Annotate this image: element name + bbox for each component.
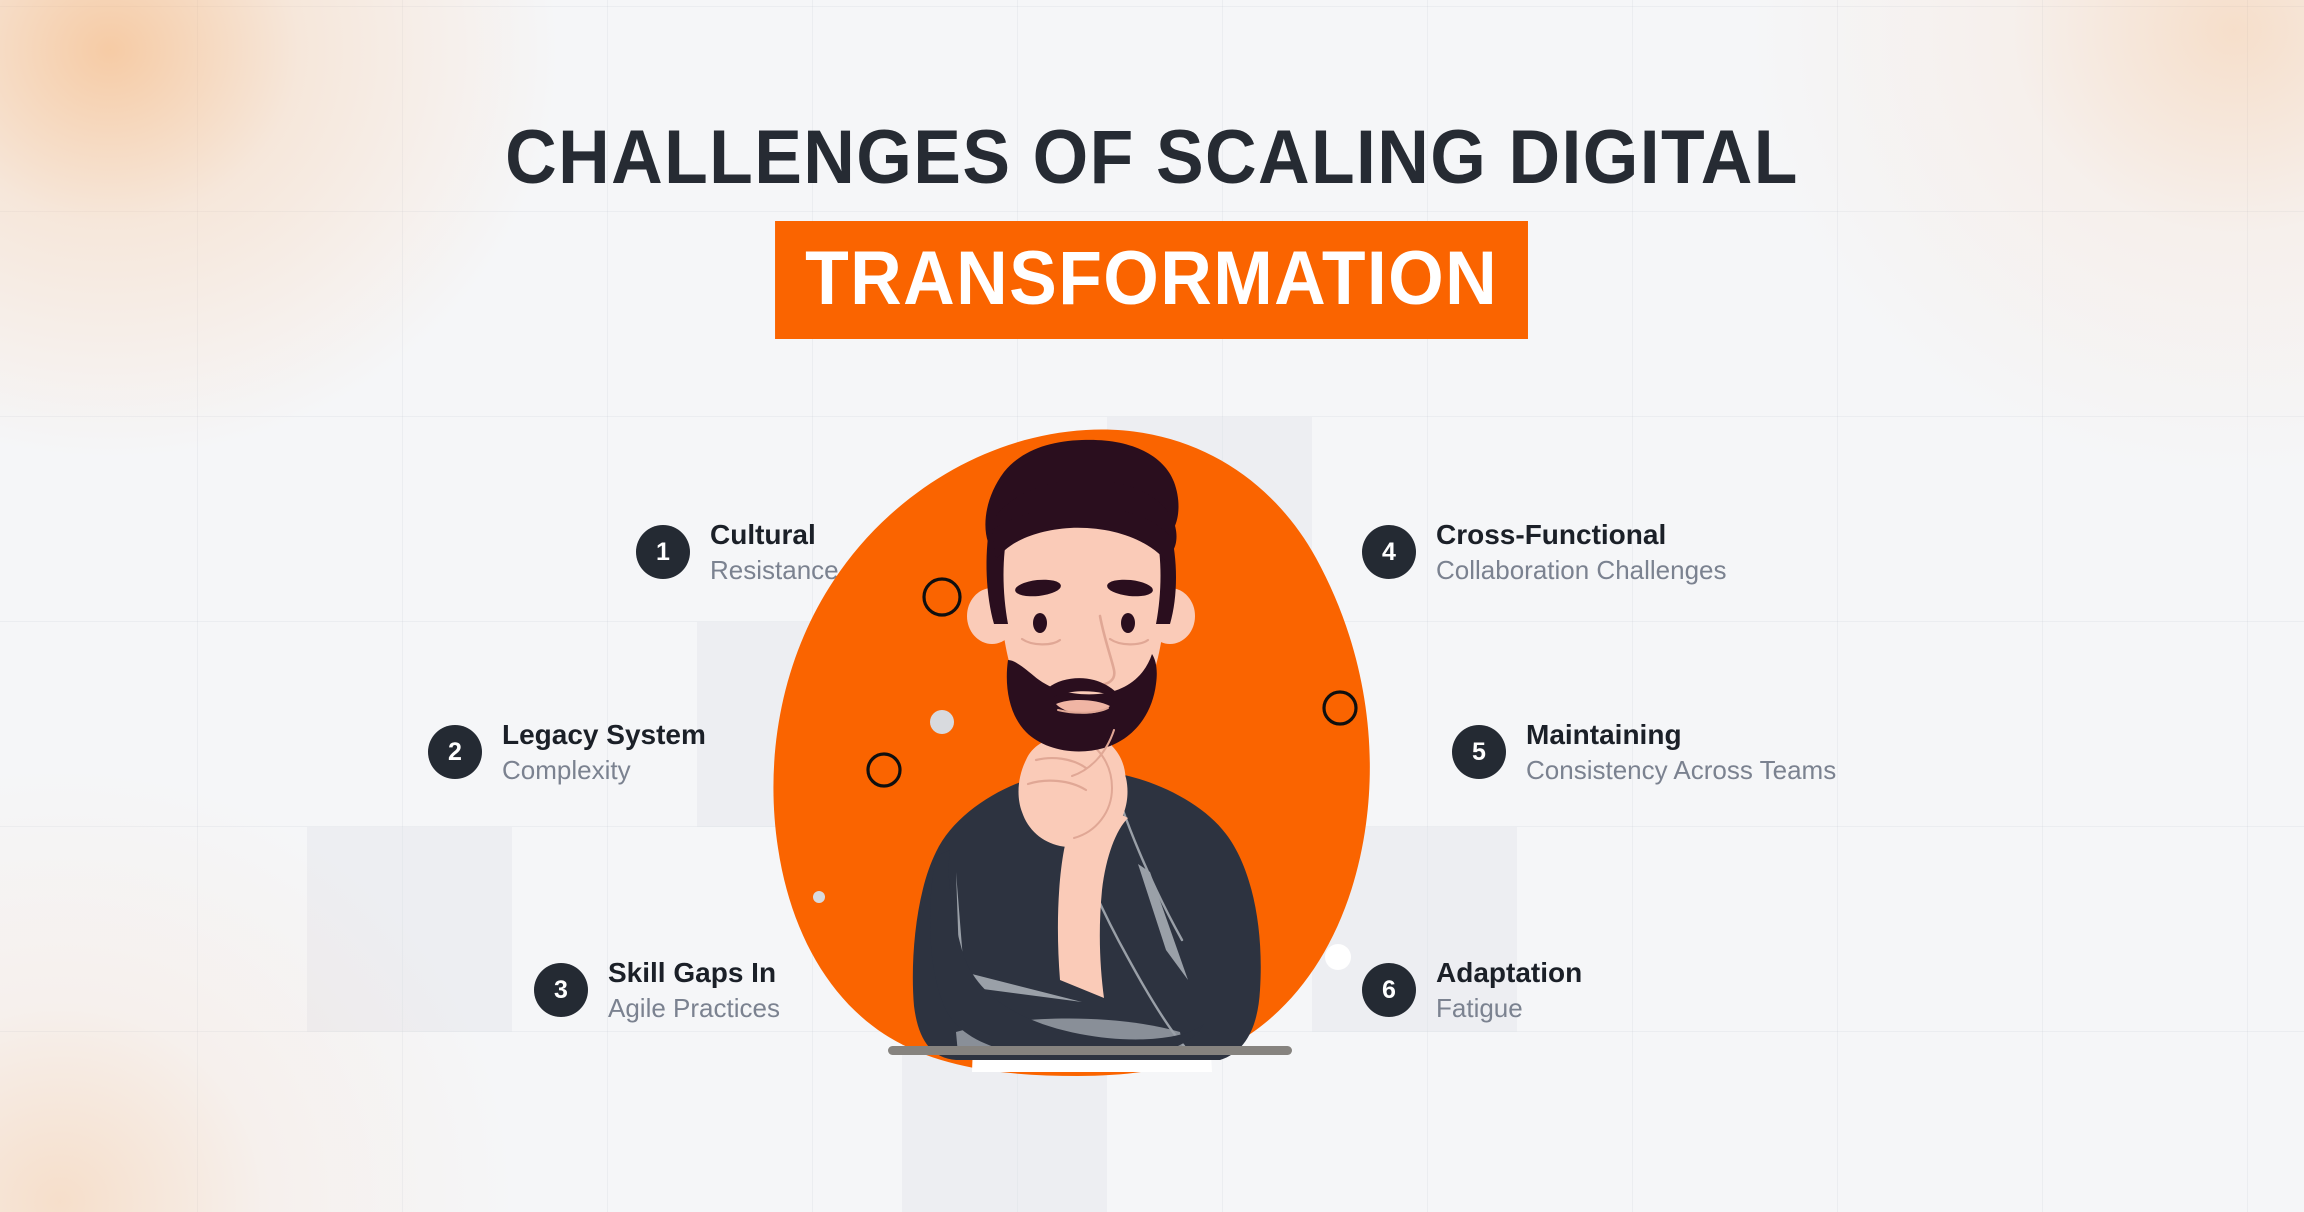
item-number-badge: 1 xyxy=(636,525,690,579)
item-text-group: Adaptation Fatigue xyxy=(1436,958,1582,1023)
item-title: Maintaining xyxy=(1526,720,1836,749)
eye-left xyxy=(1033,613,1047,633)
eye-right xyxy=(1121,613,1135,633)
item-title: Cross-Functional xyxy=(1436,520,1727,549)
ground-baseline xyxy=(888,1046,1292,1055)
item-subtitle: Complexity xyxy=(502,757,706,784)
dot-gray-icon xyxy=(930,710,954,734)
item-title: Skill Gaps In xyxy=(608,958,780,987)
dot-white-icon xyxy=(1325,944,1351,970)
challenge-item-5[interactable]: 5 Maintaining Consistency Across Teams xyxy=(1452,720,1836,785)
title-highlight-wrap: TRANSFORMATION xyxy=(0,221,2304,339)
item-number-badge: 2 xyxy=(428,725,482,779)
page-title: CHALLENGES OF SCALING DIGITAL TRANSFORMA… xyxy=(0,118,2304,339)
item-text-group: Skill Gaps In Agile Practices xyxy=(608,958,780,1023)
title-line-1: CHALLENGES OF SCALING DIGITAL xyxy=(69,118,2235,199)
item-number-badge: 3 xyxy=(534,963,588,1017)
title-highlight-badge: TRANSFORMATION xyxy=(775,221,1528,339)
challenge-item-2[interactable]: 2 Legacy System Complexity xyxy=(428,720,706,785)
dot-small-gray-icon xyxy=(813,891,825,903)
item-title: Adaptation xyxy=(1436,958,1582,987)
item-subtitle: Consistency Across Teams xyxy=(1526,757,1836,784)
challenge-item-3[interactable]: 3 Skill Gaps In Agile Practices xyxy=(534,958,780,1023)
item-text-group: Maintaining Consistency Across Teams xyxy=(1526,720,1836,785)
item-number-badge: 5 xyxy=(1452,725,1506,779)
item-subtitle: Collaboration Challenges xyxy=(1436,557,1727,584)
item-text-group: Cross-Functional Collaboration Challenge… xyxy=(1436,520,1727,585)
background-panel xyxy=(307,827,512,1032)
infographic-canvas: CHALLENGES OF SCALING DIGITAL TRANSFORMA… xyxy=(0,0,2304,1212)
item-subtitle: Agile Practices xyxy=(608,995,780,1022)
item-subtitle: Fatigue xyxy=(1436,995,1582,1022)
item-title: Legacy System xyxy=(502,720,706,749)
item-text-group: Legacy System Complexity xyxy=(502,720,706,785)
thinking-man-illustration xyxy=(760,420,1420,1080)
